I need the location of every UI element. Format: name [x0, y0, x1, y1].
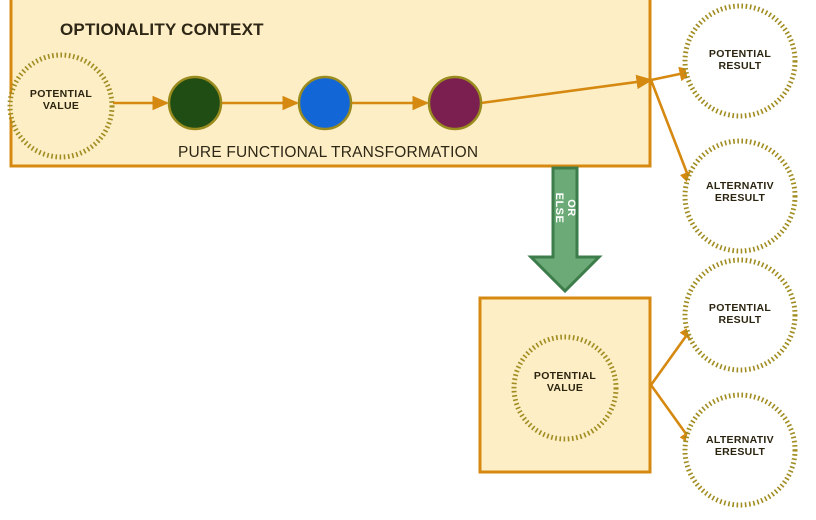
diagram-canvas: OPTIONALITY CONTEXT PURE FUNCTIONAL TRAN… — [0, 0, 816, 520]
potential-value-circle-bottom — [514, 337, 616, 439]
arrow-branch-to-alternative-result-top — [651, 80, 692, 186]
or-else-arrow — [531, 168, 599, 291]
alternative-result-circle-bottom — [685, 395, 795, 505]
transform-node-green[interactable] — [169, 77, 221, 129]
potential-value-circle-top — [10, 55, 112, 157]
alternative-result-circle-top — [685, 141, 795, 251]
potential-result-circle-top — [685, 6, 795, 116]
transform-node-maroon[interactable] — [429, 77, 481, 129]
arrow-fallback-to-potential-result-bottom — [651, 325, 694, 385]
diagram-svg — [0, 0, 816, 520]
potential-result-circle-bottom — [685, 260, 795, 370]
transform-node-blue[interactable] — [299, 77, 351, 129]
